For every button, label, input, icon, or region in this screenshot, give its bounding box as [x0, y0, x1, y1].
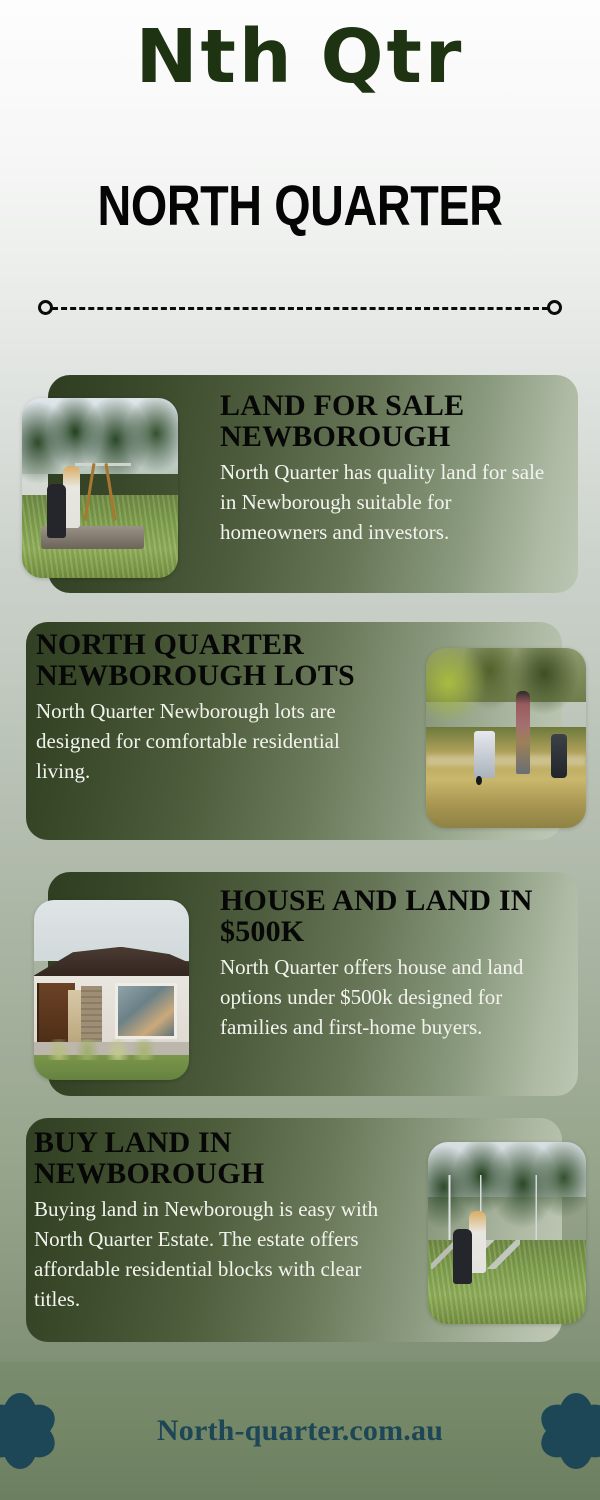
photo-golfer-fairway-icon — [426, 648, 586, 828]
card-image — [22, 398, 178, 578]
card-heading: LAND FOR SALE NEWBOROUGH — [220, 391, 562, 452]
info-card: NORTH QUARTER NEWBOROUGH LOTS North Quar… — [26, 622, 562, 840]
info-card: BUY LAND IN NEWBOROUGH Buying land in Ne… — [26, 1118, 562, 1342]
page-title: NORTH QUARTER — [54, 178, 546, 235]
info-card: LAND FOR SALE NEWBOROUGH North Quarter h… — [48, 375, 578, 593]
divider-ring-right-icon — [547, 300, 562, 315]
section-divider — [38, 300, 562, 316]
footer-bar: North-quarter.com.au — [0, 1362, 600, 1500]
card-heading: NORTH QUARTER NEWBOROUGH LOTS — [36, 630, 386, 691]
infographic-poster: NthQtr NORTH QUARTER LAND FOR SALE NEWBO… — [0, 0, 600, 1500]
card-body: North Quarter offers house and land opti… — [220, 953, 568, 1042]
card-heading: HOUSE AND LAND IN $500K — [220, 886, 568, 947]
card-body: North Quarter Newborough lots are design… — [36, 697, 386, 786]
photo-children-playground-icon — [22, 398, 178, 578]
card-heading: BUY LAND IN NEWBOROUGH — [34, 1128, 396, 1189]
divider-ring-left-icon — [38, 300, 53, 315]
card-image — [428, 1142, 586, 1324]
card-copy: LAND FOR SALE NEWBOROUGH North Quarter h… — [220, 391, 562, 548]
photo-children-park-icon — [428, 1142, 586, 1324]
brand-logo: NthQtr — [0, 20, 600, 94]
card-copy: HOUSE AND LAND IN $500K North Quarter of… — [220, 886, 568, 1043]
brand-logo-part-one: Nth — [136, 14, 295, 100]
flower-icon — [534, 1389, 600, 1473]
card-copy: NORTH QUARTER NEWBOROUGH LOTS North Quar… — [36, 630, 386, 787]
photo-house-facade-icon — [34, 900, 189, 1080]
card-image — [426, 648, 586, 828]
website-url[interactable]: North-quarter.com.au — [157, 1414, 443, 1448]
card-copy: BUY LAND IN NEWBOROUGH Buying land in Ne… — [34, 1128, 396, 1314]
card-image — [34, 900, 189, 1080]
card-body: Buying land in Newborough is easy with N… — [34, 1195, 396, 1314]
brand-logo-part-two: Qtr — [321, 14, 465, 100]
card-body: North Quarter has quality land for sale … — [220, 458, 562, 547]
info-card: HOUSE AND LAND IN $500K North Quarter of… — [48, 872, 578, 1096]
flower-icon — [0, 1389, 62, 1473]
divider-dashed-line — [52, 307, 548, 310]
